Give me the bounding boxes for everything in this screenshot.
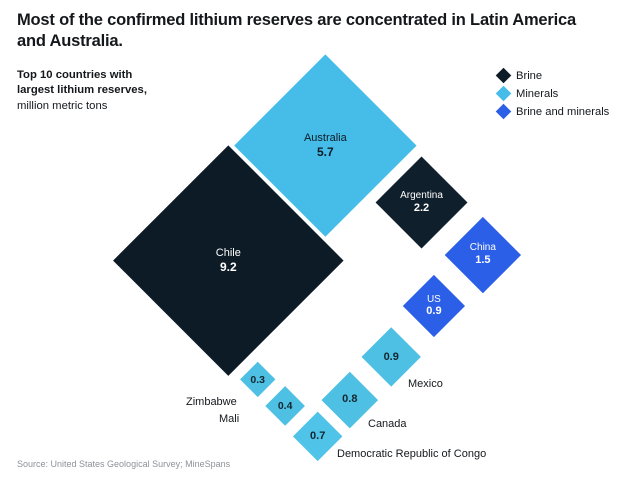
diamond-value: 0.7	[310, 431, 325, 444]
diamond-label-group: 0.4	[271, 392, 299, 420]
diamond-country-name: US	[427, 294, 441, 306]
diamond-value: 0.9	[426, 305, 441, 318]
diamond-country-name: Chile	[215, 246, 240, 259]
diamond-value: 0.8	[342, 394, 357, 407]
diamond-value: 1.5	[475, 254, 490, 267]
diamond-label-group: Australia5.7	[261, 81, 390, 210]
label-drc: Democratic Republic of Congo	[337, 448, 486, 460]
diamond-country-name: Australia	[304, 131, 347, 144]
diamond-value: 9.2	[220, 259, 237, 273]
diamond-mali[interactable]: 0.4	[265, 386, 305, 426]
diamond-value: 0.9	[383, 351, 398, 364]
diamond-label-group: 0.9	[370, 336, 412, 378]
diamond-value: 0.4	[278, 400, 293, 412]
diamond-label-group: US0.9	[412, 284, 456, 328]
diamond-value: 5.7	[317, 144, 334, 158]
source-note: Source: United States Geological Survey;…	[17, 459, 230, 469]
chart-page: Most of the confirmed lithium reserves a…	[0, 0, 640, 481]
diamond-label-group: 0.8	[330, 380, 370, 420]
label-zimbabwe: Zimbabwe	[186, 396, 237, 408]
diamond-label-group: China1.5	[456, 228, 510, 282]
diamond-label-group: 0.7	[300, 419, 335, 454]
diamond-democratic-republic-of-congo[interactable]: 0.7	[293, 412, 343, 462]
label-mexico: Mexico	[408, 378, 443, 390]
diamond-value: 2.2	[414, 202, 429, 215]
diamond-us[interactable]: US0.9	[403, 275, 465, 337]
diamond-country-name: China	[470, 243, 496, 255]
diamond-china[interactable]: China1.5	[445, 217, 521, 293]
diamond-plot: Chile9.2Australia5.7Argentina2.2China1.5…	[0, 0, 640, 481]
diamond-value: 0.3	[251, 374, 266, 386]
diamond-label-group: Chile9.2	[147, 179, 310, 342]
diamond-zimbabwe[interactable]: 0.3	[240, 362, 276, 398]
diamond-country-name: Argentina	[401, 191, 444, 203]
label-canada: Canada	[368, 418, 407, 430]
diamond-label-group: Argentina2.2	[389, 170, 454, 235]
diamond-label-group: 0.3	[245, 367, 270, 392]
label-mali: Mali	[219, 413, 239, 425]
